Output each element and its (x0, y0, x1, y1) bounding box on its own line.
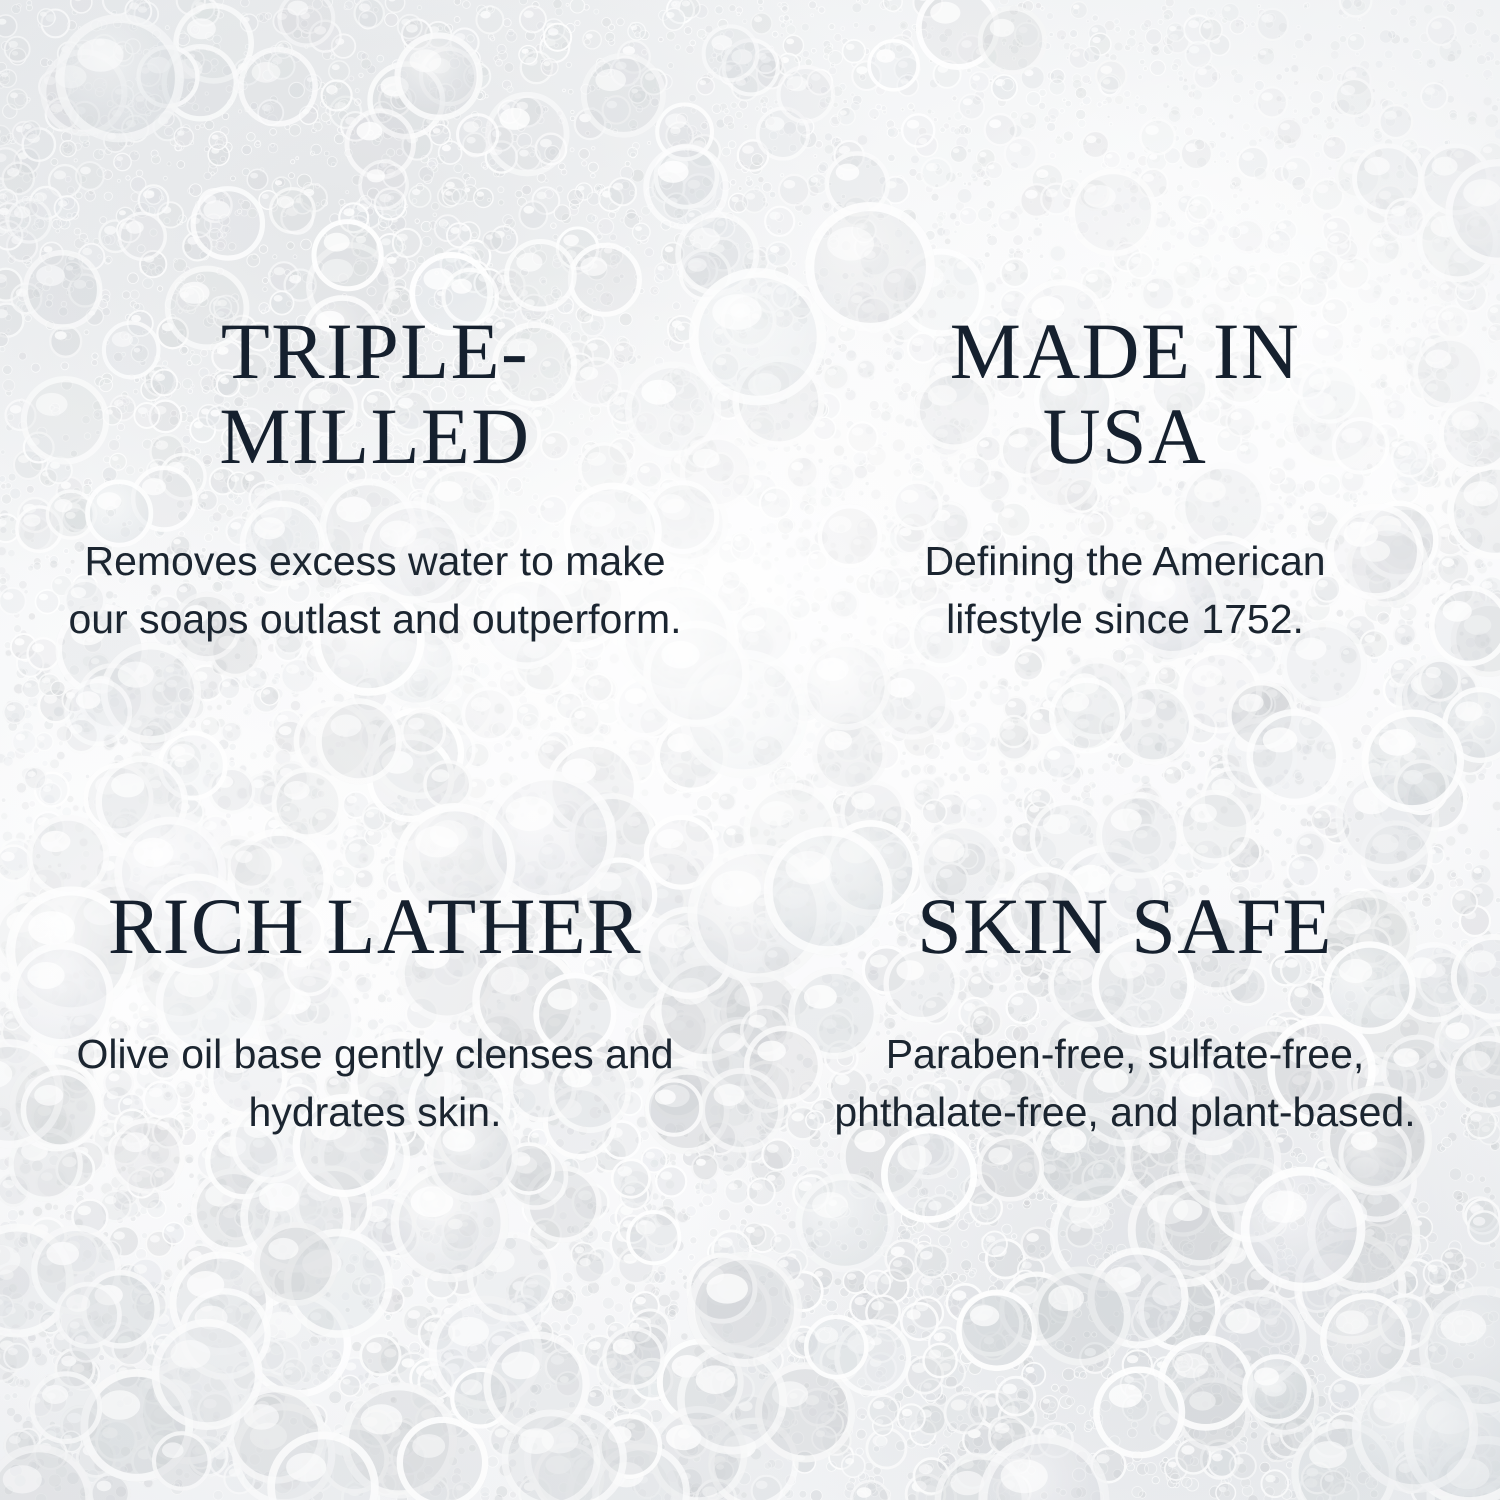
feature-headline-made-in-usa: MADE IN USA (910, 310, 1340, 480)
feature-made-in-usa: MADE IN USA Defining the American lifest… (750, 0, 1500, 750)
feature-skin-safe: SKIN SAFE Paraben-free, sulfate-free, ph… (750, 750, 1500, 1500)
feature-headline-skin-safe: SKIN SAFE (815, 885, 1435, 970)
feature-body-triple-milled: Removes excess water to make our soaps o… (55, 532, 695, 648)
feature-body-rich-lather: Olive oil base gently clenses and hydrat… (45, 1025, 705, 1141)
feature-body-made-in-usa: Defining the American lifestyle since 17… (853, 532, 1398, 648)
feature-headline-triple-milled: TRIPLE-MILLED (160, 310, 590, 480)
feature-headline-rich-lather: RICH LATHER (25, 885, 725, 970)
feature-rich-lather: RICH LATHER Olive oil base gently clense… (0, 750, 750, 1500)
feature-body-skin-safe: Paraben-free, sulfate-free, phthalate-fr… (820, 1025, 1430, 1141)
product-feature-graphic: TRIPLE-MILLED Removes excess water to ma… (0, 0, 1500, 1500)
feature-grid: TRIPLE-MILLED Removes excess water to ma… (0, 0, 1500, 1500)
feature-triple-milled: TRIPLE-MILLED Removes excess water to ma… (0, 0, 750, 750)
